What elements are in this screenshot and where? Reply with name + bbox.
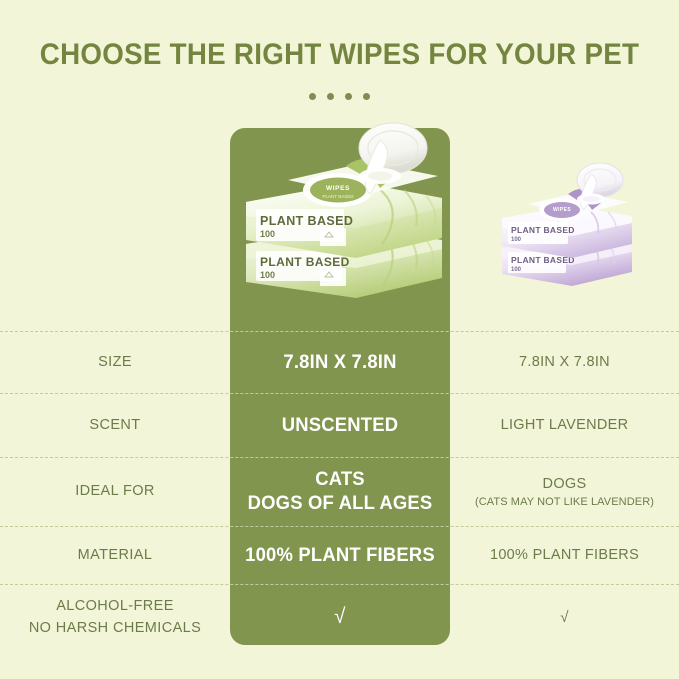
row-label-size: SIZE <box>0 332 230 393</box>
row-value-alt-size: 7.8IN X 7.8IN <box>450 332 679 393</box>
row-value-main-ideal-for: CATS DOGS OF ALL AGES <box>233 458 446 526</box>
svg-text:WIPES: WIPES <box>326 185 350 192</box>
svg-text:WIPES: WIPES <box>553 207 571 213</box>
row-value-main-alcohol-free: √ <box>233 585 446 650</box>
row-value-alt-alcohol-free: √ <box>450 585 679 650</box>
svg-text:PLANT BASED: PLANT BASED <box>323 194 355 199</box>
page-title: CHOOSE THE RIGHT WIPES FOR YOUR PET <box>20 38 658 72</box>
product-image-lavender: PLANT BASED 100 PLANT BASED 100 WIPES <box>492 160 644 306</box>
svg-text:100: 100 <box>511 237 522 243</box>
row-label-ideal-for: IDEAL FOR <box>0 458 230 526</box>
row-value-alt-scent: LIGHT LAVENDER <box>450 394 679 457</box>
pet-wipes-comparison-infographic: CHOOSE THE RIGHT WIPES FOR YOUR PET <box>0 0 679 679</box>
svg-text:100: 100 <box>511 267 522 273</box>
separator-dot-icon <box>309 93 316 100</box>
ideal-for-alt-note: (CATS MAY NOT LIKE LAVENDER) <box>475 495 654 509</box>
row-label-material: MATERIAL <box>0 527 230 584</box>
row-value-alt-ideal-for: DOGS (CATS MAY NOT LIKE LAVENDER) <box>450 458 679 526</box>
table-row-size: SIZE 7.8IN X 7.8IN 7.8IN X 7.8IN <box>0 331 679 393</box>
row-value-main-material: 100% PLANT FIBERS <box>233 527 446 584</box>
alcohol-free-label-line2: NO HARSH CHEMICALS <box>29 618 201 639</box>
row-value-alt-material: 100% PLANT FIBERS <box>450 527 679 584</box>
comparison-table: SIZE 7.8IN X 7.8IN 7.8IN X 7.8IN SCENT U… <box>0 331 679 650</box>
table-row-scent: SCENT UNSCENTED LIGHT LAVENDER <box>0 393 679 457</box>
product-image-unscented: PLANT BASED 100 PLANT BASED 100 <box>228 118 460 326</box>
table-row-ideal-for: IDEAL FOR CATS DOGS OF ALL AGES DOGS (CA… <box>0 457 679 526</box>
row-label-scent: SCENT <box>0 394 230 457</box>
ideal-for-main-line1: CATS <box>315 468 365 492</box>
separator-dot-icon <box>363 93 370 100</box>
alcohol-free-label-line1: ALCOHOL-FREE <box>56 596 174 617</box>
separator-dot-icon <box>327 93 334 100</box>
svg-text:PLANT BASED: PLANT BASED <box>260 214 353 228</box>
table-row-material: MATERIAL 100% PLANT FIBERS 100% PLANT FI… <box>0 526 679 584</box>
row-label-alcohol-free: ALCOHOL-FREE NO HARSH CHEMICALS <box>0 585 230 650</box>
svg-text:100: 100 <box>260 229 275 239</box>
row-value-main-scent: UNSCENTED <box>233 394 446 457</box>
table-row-alcohol-free: ALCOHOL-FREE NO HARSH CHEMICALS √ √ <box>0 584 679 650</box>
row-value-main-size: 7.8IN X 7.8IN <box>233 332 446 393</box>
svg-text:100: 100 <box>260 270 275 280</box>
svg-text:PLANT BASED: PLANT BASED <box>511 225 575 235</box>
ideal-for-main-line2: DOGS OF ALL AGES <box>248 492 433 516</box>
dot-separator <box>0 93 679 100</box>
ideal-for-alt-main: DOGS <box>543 475 587 494</box>
svg-text:PLANT BASED: PLANT BASED <box>260 255 350 269</box>
separator-dot-icon <box>345 93 352 100</box>
